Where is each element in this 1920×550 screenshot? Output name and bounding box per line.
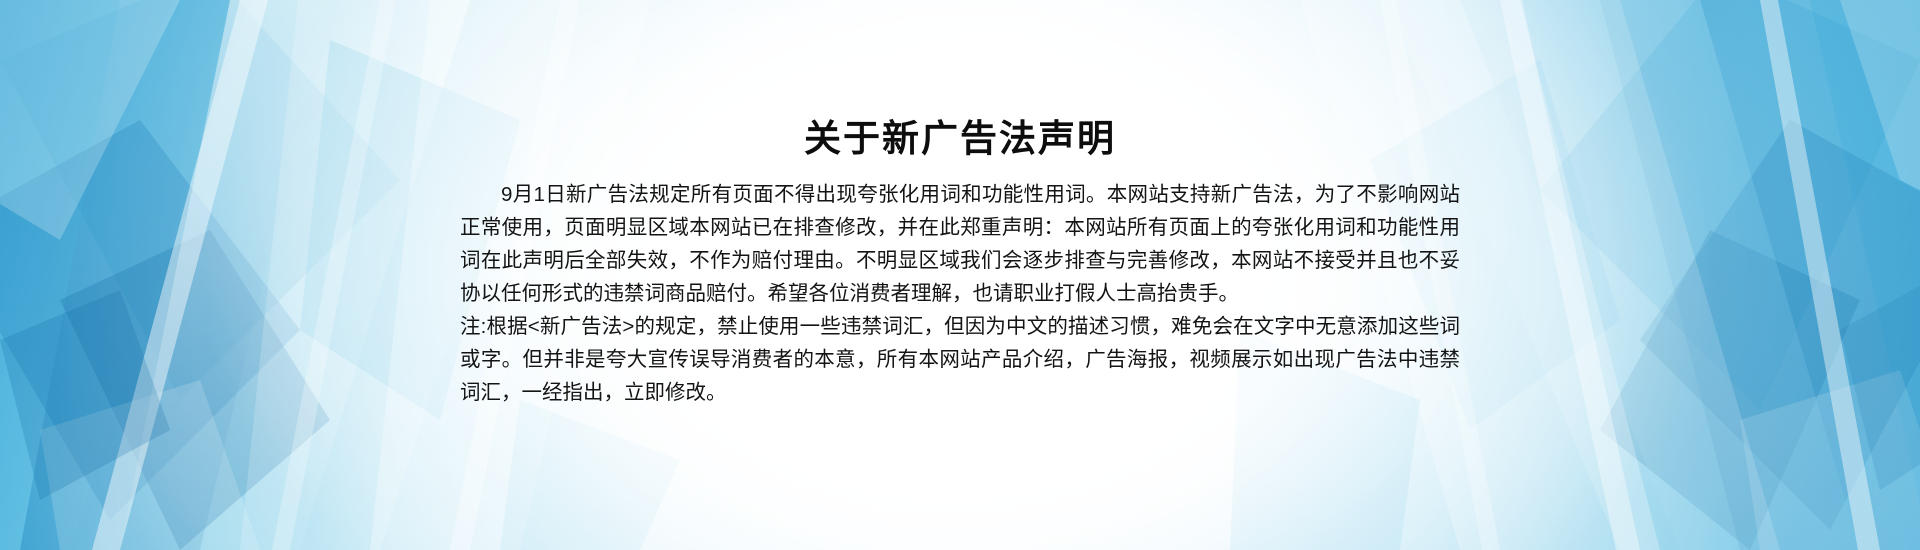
statement-paragraph-2: 注:根据<新广告法>的规定，禁止使用一些违禁词汇，但因为中文的描述习惯，难免会在… (460, 310, 1460, 409)
statement-paragraph-1: 9月1日新广告法规定所有页面不得出现夸张化用词和功能性用词。本网站支持新广告法，… (460, 178, 1460, 310)
statement-banner: 关于新广告法声明 9月1日新广告法规定所有页面不得出现夸张化用词和功能性用词。本… (0, 0, 1920, 550)
statement-content: 关于新广告法声明 9月1日新广告法规定所有页面不得出现夸张化用词和功能性用词。本… (0, 0, 1920, 550)
statement-text-block: 9月1日新广告法规定所有页面不得出现夸张化用词和功能性用词。本网站支持新广告法，… (460, 178, 1460, 409)
page-title: 关于新广告法声明 (0, 117, 1920, 161)
